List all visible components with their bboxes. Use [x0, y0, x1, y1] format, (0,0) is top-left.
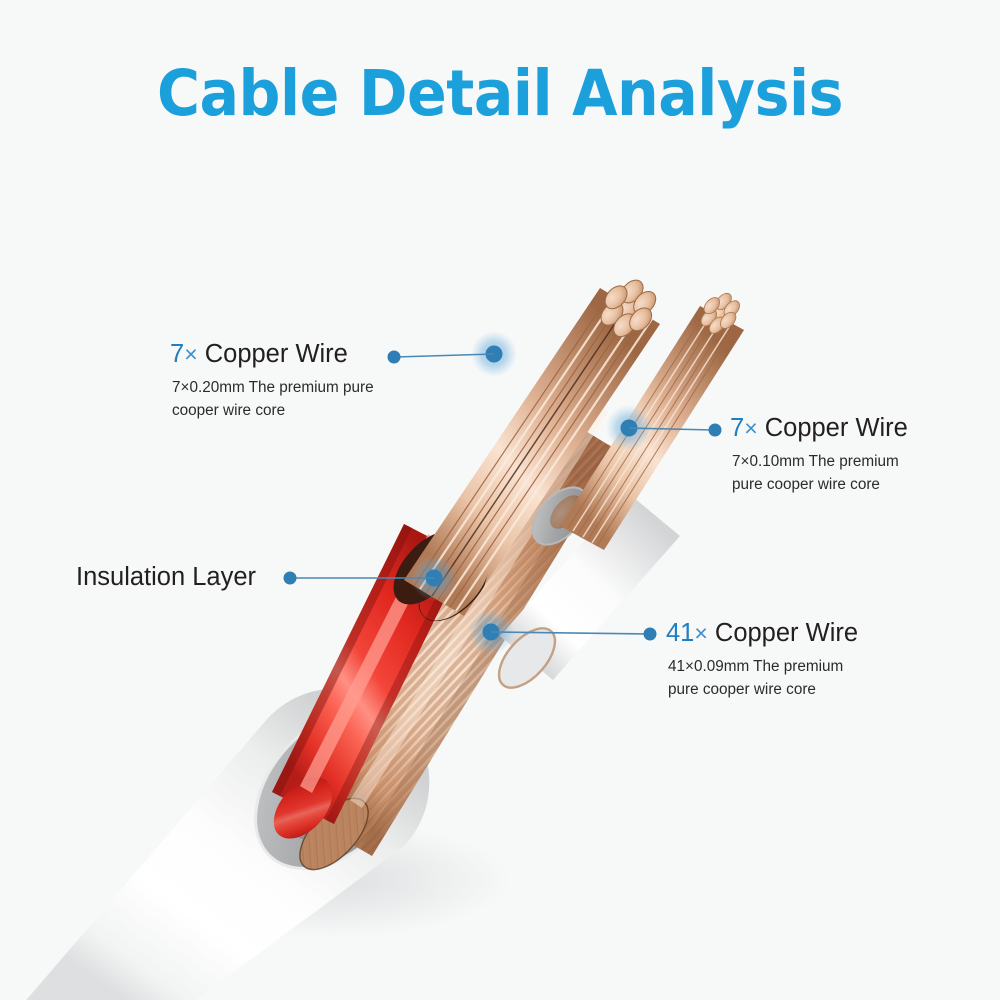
callout-insulation-layer: Insulation Layer	[76, 564, 256, 591]
callout-headline: 7× Copper Wire	[730, 415, 908, 442]
illustration-canvas: Cable Detail Analysis	[0, 0, 1000, 1000]
callout-description: 7×0.10mm The premium pure cooper wire co…	[732, 451, 908, 497]
callout-label: Insulation Layer	[76, 563, 256, 591]
callout-label: Copper Wire	[205, 340, 348, 368]
callout-copper-wire-41-009: 41× Copper Wire 41×0.09mm The premium pu…	[666, 620, 858, 702]
callout-count: 7	[170, 340, 184, 368]
callout-headline: Insulation Layer	[76, 564, 256, 591]
callout-times-symbol: ×	[694, 620, 707, 646]
callout-copper-wire-7-010: 7× Copper Wire 7×0.10mm The premium pure…	[730, 415, 908, 497]
callout-headline: 7× Copper Wire	[170, 341, 374, 368]
callout-label: Copper Wire	[765, 414, 908, 442]
callout-description: 41×0.09mm The premium pure cooper wire c…	[668, 656, 858, 702]
callout-description: 7×0.20mm The premium pure cooper wire co…	[172, 377, 374, 423]
callout-times-symbol: ×	[184, 341, 197, 367]
callout-copper-wire-7-020: 7× Copper Wire 7×0.20mm The premium pure…	[170, 341, 374, 423]
callout-count: 7	[730, 414, 744, 442]
callout-count: 41	[666, 619, 694, 647]
callout-headline: 41× Copper Wire	[666, 620, 858, 647]
callout-times-symbol: ×	[744, 415, 757, 441]
cable-illustration	[0, 0, 1000, 1000]
callout-label: Copper Wire	[715, 619, 858, 647]
